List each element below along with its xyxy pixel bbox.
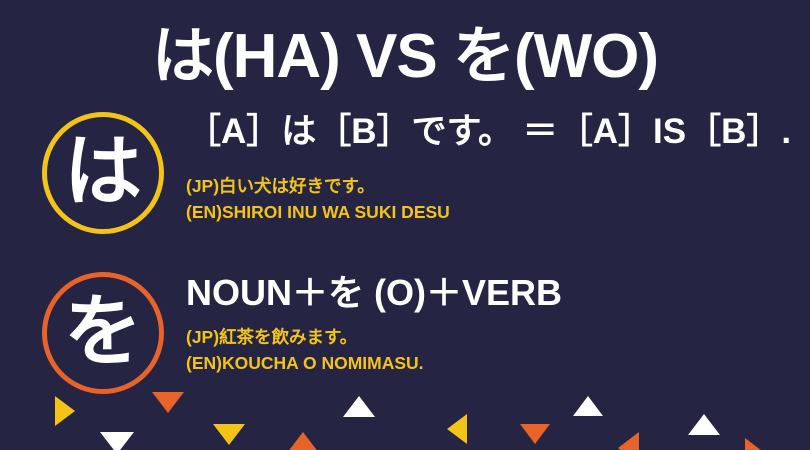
decorative-triangle-down — [213, 424, 245, 445]
particle-glyph-wo: を — [64, 292, 142, 370]
decorative-triangle-up — [343, 396, 375, 417]
particle-content-wo: NOUN＋を (O)＋VERB (JP)紅茶を飲みます。 (EN)KOUCHA … — [186, 272, 796, 376]
particle-glyph-ha: は — [64, 132, 142, 210]
example-jp-ha: (JP)白い犬は好きです。 — [186, 174, 796, 199]
decorative-triangle-left — [447, 414, 467, 444]
particle-badge-ha: は — [42, 112, 164, 234]
particle-content-ha: ［A］は［B］です。 ＝［A］IS［B］. (JP)白い犬は好きです。 (EN)… — [186, 112, 796, 225]
decorative-triangle-up — [573, 396, 603, 416]
decorative-triangle-left — [618, 432, 639, 450]
decorative-triangle-up — [287, 432, 319, 450]
example-en-wo: (EN)KOUCHA O NOMIMASU. — [186, 351, 796, 376]
formula-wo: NOUN＋を (O)＋VERB — [186, 272, 796, 313]
formula-ha: ［A］は［B］です。 ＝［A］IS［B］. — [186, 112, 796, 152]
decorative-triangle-down — [152, 392, 184, 413]
page-title: は(HA) VS を(WO) — [0, 26, 810, 88]
decorative-triangle-up — [688, 414, 720, 435]
decorative-triangle-down — [520, 424, 550, 444]
particle-badge-wo: を — [42, 272, 164, 394]
decorative-triangle-down — [100, 432, 134, 450]
decorative-triangle-right — [745, 438, 766, 450]
decorative-triangle-right — [55, 396, 75, 426]
example-jp-wo: (JP)紅茶を飲みます。 — [186, 325, 796, 350]
example-en-ha: (EN)SHIROI INU WA SUKI DESU — [186, 200, 796, 225]
infographic-poster: は(HA) VS を(WO) は ［A］は［B］です。 ＝［A］IS［B］. (… — [0, 0, 810, 450]
